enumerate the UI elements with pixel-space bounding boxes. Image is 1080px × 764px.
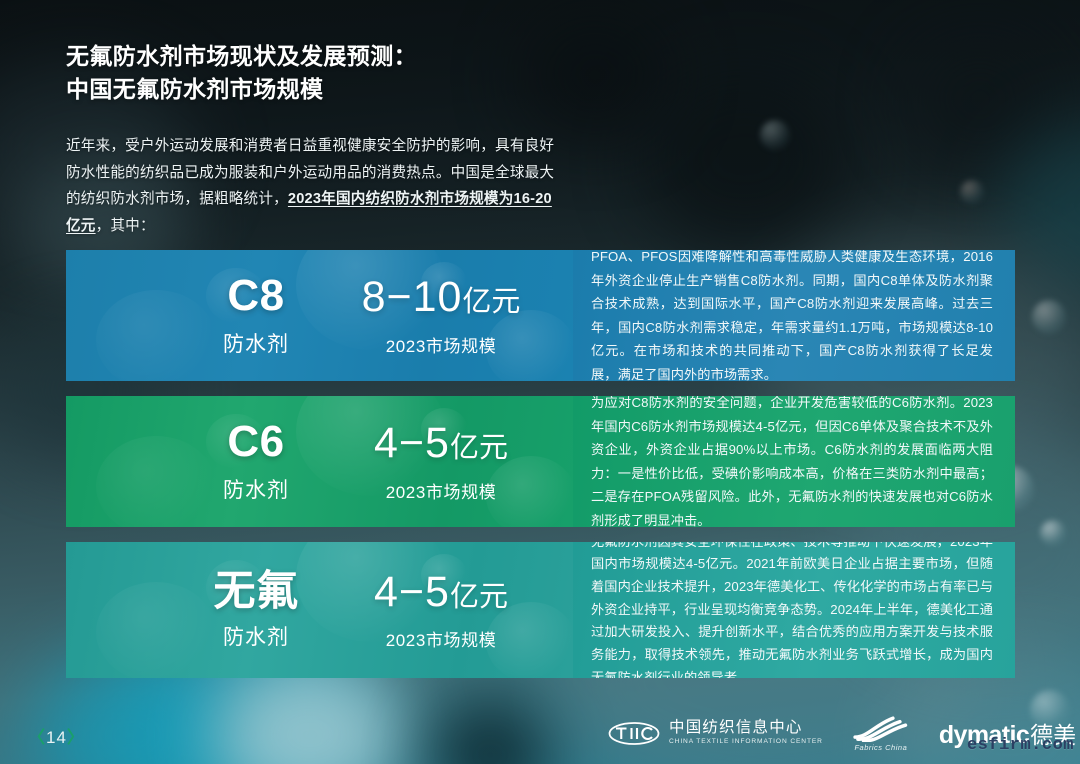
logo-china-textile-information-center: 中国纺织信息中心 CHINA TEXTILE INFORMATION CENTE… (608, 720, 823, 746)
logo-fabrics-china: Fabrics China (849, 714, 913, 752)
watermark: esfirm.com (967, 736, 1074, 755)
band-amount-number: 4−5 (374, 419, 450, 467)
band-value-block: 8−10亿元 2023市场规模 (296, 250, 586, 381)
band-amount-caption: 2023市场规模 (386, 626, 497, 651)
band-kpi-panel: 无氟 防水剂 4−5亿元 2023市场规模 (66, 542, 573, 678)
band-description: 无氟防水剂因其安全环保性在政策、技术等推动下快速发展，2023年国内市场规模达4… (591, 542, 993, 678)
market-band-c6: C6 防水剂 4−5亿元 2023市场规模 为应对C8防水剂的安全问题，企业开发… (66, 396, 1015, 527)
intro-paragraph: 近年来，受户外运动发展和消费者日益重视健康安全防护的影响，具有良好防水性能的纺织… (66, 133, 566, 239)
band-amount-unit: 亿元 (462, 286, 520, 318)
slide-page: 无氟防水剂市场现状及发展预测： 中国无氟防水剂市场规模 近年来，受户外运动发展和… (0, 0, 1080, 764)
page-number: 〈14〉 (28, 723, 85, 748)
market-band-fluorine-free: 无氟 防水剂 4−5亿元 2023市场规模 无氟防水剂因其安全环保性在政策、技术… (66, 542, 1015, 678)
band-code: C6 (227, 419, 284, 465)
band-kpi-panel: C6 防水剂 4−5亿元 2023市场规模 (66, 396, 573, 527)
band-code: C8 (227, 273, 284, 319)
page-number-bracket-right: 〉 (67, 728, 85, 747)
band-amount-number: 8−10 (362, 273, 463, 321)
band-code-subtitle: 防水剂 (223, 328, 289, 358)
tic-name-en: CHINA TEXTILE INFORMATION CENTER (669, 739, 823, 746)
band-value-block: 4−5亿元 2023市场规模 (296, 542, 586, 678)
fabrics-china-wordmark: Fabrics China (854, 743, 907, 752)
band-description-panel: 无氟防水剂因其安全环保性在政策、技术等推动下快速发展，2023年国内市场规模达4… (573, 542, 1015, 678)
band-kpi-panel: C8 防水剂 8−10亿元 2023市场规模 (66, 250, 573, 381)
band-description: 为应对C8防水剂的安全问题，企业开发危害较低的C6防水剂。2023年国内C6防水… (591, 396, 993, 527)
band-description-panel: 为应对C8防水剂的安全问题，企业开发危害较低的C6防水剂。2023年国内C6防水… (573, 396, 1015, 527)
tic-emblem-icon (608, 721, 660, 746)
band-amount-unit: 亿元 (450, 581, 508, 613)
band-code-subtitle: 防水剂 (223, 474, 289, 504)
tic-name-cn: 中国纺织信息中心 (669, 720, 823, 736)
intro-text-tail: ，其中： (96, 218, 155, 234)
band-amount-caption: 2023市场规模 (386, 478, 497, 503)
band-amount-number: 4−5 (374, 568, 450, 616)
fabrics-china-swoosh-icon (849, 714, 913, 742)
band-amount-unit: 亿元 (450, 432, 508, 464)
tic-wordmark: 中国纺织信息中心 CHINA TEXTILE INFORMATION CENTE… (669, 720, 823, 746)
market-band-c8: C8 防水剂 8−10亿元 2023市场规模 PFOA、PFOS因难降解性和高毒… (66, 250, 1015, 381)
page-title: 无氟防水剂市场现状及发展预测： 中国无氟防水剂市场规模 (66, 40, 706, 106)
page-title-line-2: 中国无氟防水剂市场规模 (66, 73, 706, 106)
page-title-line-1: 无氟防水剂市场现状及发展预测： (66, 43, 417, 69)
band-code-subtitle: 防水剂 (223, 621, 289, 651)
band-description: PFOA、PFOS因难降解性和高毒性威胁人类健康及生态环境，2016年外资企业停… (591, 250, 993, 381)
band-amount: 4−5亿元 (374, 569, 508, 616)
page-number-value: 14 (46, 728, 67, 747)
band-amount: 4−5亿元 (374, 420, 508, 467)
band-code: 无氟 (213, 569, 298, 613)
band-description-panel: PFOA、PFOS因难降解性和高毒性威胁人类健康及生态环境，2016年外资企业停… (573, 250, 1015, 381)
band-amount-caption: 2023市场规模 (386, 332, 497, 357)
band-amount: 8−10亿元 (362, 274, 521, 321)
band-value-block: 4−5亿元 2023市场规模 (296, 396, 586, 527)
page-number-bracket-left: 〈 (28, 728, 46, 747)
